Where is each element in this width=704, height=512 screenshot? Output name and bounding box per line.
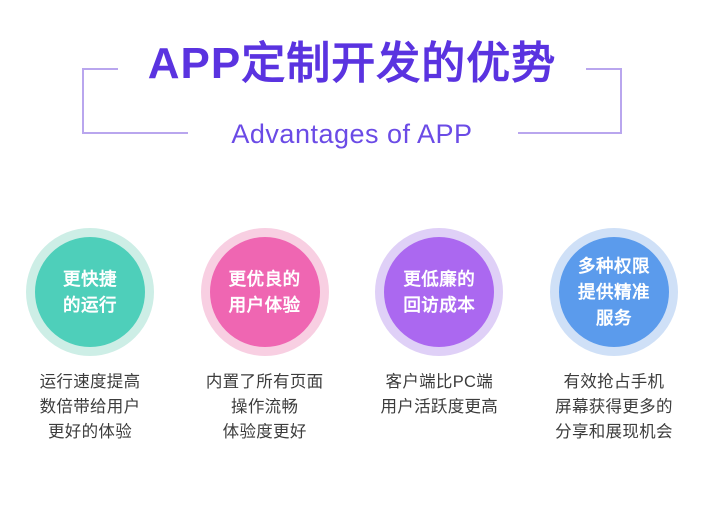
advantage-caption: 运行速度提高 数倍带给用户 更好的体验 (40, 370, 141, 445)
advantage-caption: 内置了所有页面 操作流畅 体验度更好 (206, 370, 324, 445)
advantage-card: 更优良的 用户体验 内置了所有页面 操作流畅 体验度更好 (189, 228, 341, 488)
advantage-caption: 客户端比PC端 用户活跃度更高 (381, 370, 499, 420)
advantage-bubble-1: 更快捷 的运行 (26, 228, 154, 356)
advantage-bubble-3: 更低廉的 回访成本 (375, 228, 503, 356)
advantage-bubble-label: 多种权限 提供精准 服务 (578, 253, 650, 331)
advantage-bubble-2: 更优良的 用户体验 (201, 228, 329, 356)
header-section: APP定制开发的优势 Advantages of APP (0, 0, 704, 175)
advantage-bubble-label: 更快捷 的运行 (63, 266, 117, 318)
page-title: APP定制开发的优势 (0, 38, 704, 90)
advantage-bubble-label: 更低廉的 回访成本 (403, 266, 475, 318)
advantage-card: 更快捷 的运行 运行速度提高 数倍带给用户 更好的体验 (14, 228, 166, 488)
page-subtitle: Advantages of APP (0, 117, 704, 151)
advantage-card: 多种权限 提供精准 服务 有效抢占手机 屏幕获得更多的 分享和展现机会 (538, 228, 690, 488)
advantage-card-list: 更快捷 的运行 运行速度提高 数倍带给用户 更好的体验 更优良的 用户体验 内置… (0, 228, 704, 488)
advantage-bubble-label: 更优良的 用户体验 (229, 266, 301, 318)
advantage-bubble-4: 多种权限 提供精准 服务 (550, 228, 678, 356)
advantage-caption: 有效抢占手机 屏幕获得更多的 分享和展现机会 (555, 370, 673, 445)
advantage-card: 更低廉的 回访成本 客户端比PC端 用户活跃度更高 (363, 228, 515, 488)
